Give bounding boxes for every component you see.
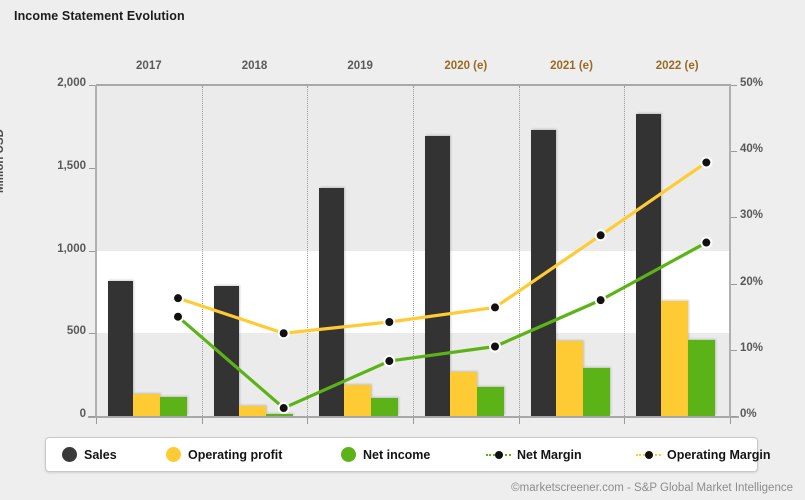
- point-operating-margin-4: [596, 230, 606, 240]
- bottom-tick-mark: [730, 418, 731, 424]
- left-tick-mark: [89, 416, 95, 417]
- right-tick-label: 30%: [740, 209, 763, 221]
- left-tick-mark: [89, 333, 95, 334]
- right-tick-label: 50%: [740, 77, 763, 89]
- right-tick-mark: [731, 151, 737, 152]
- legend-label: Sales: [84, 448, 117, 462]
- category-label-2019: 2019: [300, 60, 420, 72]
- bottom-tick-mark: [307, 418, 308, 424]
- legend-dotted-line-icon: [636, 448, 661, 461]
- bottom-tick-mark: [413, 418, 414, 424]
- point-net-margin-2: [384, 356, 394, 366]
- legend-dot-icon: [166, 447, 181, 462]
- page-title: Income Statement Evolution: [14, 9, 185, 23]
- point-operating-margin-0: [173, 293, 183, 303]
- left-tick-label: 500: [67, 325, 86, 337]
- bottom-tick-mark: [96, 418, 97, 424]
- legend-dot-icon: [62, 447, 77, 462]
- left-axis-title: Million USD: [0, 129, 6, 193]
- left-tick-label: 1,000: [57, 243, 86, 255]
- legend-item-net-income[interactable]: Net income: [341, 447, 430, 462]
- legend-item-sales[interactable]: Sales: [62, 447, 117, 462]
- right-tick-label: 10%: [740, 342, 763, 354]
- right-tick-mark: [731, 284, 737, 285]
- category-label-2018: 2018: [195, 60, 315, 72]
- line-operating-margin: [178, 162, 706, 333]
- margin-lines-layer: [96, 85, 730, 416]
- point-operating-margin-5: [701, 157, 711, 167]
- right-tick-label: 0%: [740, 408, 757, 420]
- legend-label: Net Margin: [517, 448, 582, 462]
- point-net-margin-3: [490, 341, 500, 351]
- category-label-2022-e-: 2022 (e): [617, 60, 737, 72]
- point-operating-margin-3: [490, 302, 500, 312]
- point-operating-margin-2: [384, 317, 394, 327]
- legend-label: Net income: [363, 448, 430, 462]
- chart-legend: SalesOperating profitNet incomeNet Margi…: [45, 437, 758, 472]
- attribution-footer: ©marketscreener.com - S&P Global Market …: [511, 482, 793, 494]
- point-net-margin-0: [173, 312, 183, 322]
- category-label-2020-e-: 2020 (e): [406, 60, 526, 72]
- bottom-tick-mark: [202, 418, 203, 424]
- point-net-margin-4: [596, 295, 606, 305]
- right-tick-mark: [731, 350, 737, 351]
- legend-dot-icon: [341, 447, 356, 462]
- right-tick-label: 20%: [740, 276, 763, 288]
- legend-dotted-line-icon: [486, 448, 511, 461]
- bottom-tick-mark: [519, 418, 520, 424]
- left-tick-mark: [89, 168, 95, 169]
- right-tick-label: 40%: [740, 143, 763, 155]
- legend-label: Operating profit: [188, 448, 282, 462]
- point-net-margin-5: [701, 238, 711, 248]
- left-tick-mark: [89, 251, 95, 252]
- left-tick-mark: [89, 85, 95, 86]
- legend-item-operating-margin[interactable]: Operating Margin: [636, 448, 770, 462]
- left-tick-label: 0: [80, 408, 86, 420]
- left-tick-label: 1,500: [57, 160, 86, 172]
- category-label-2017: 2017: [89, 60, 209, 72]
- point-net-margin-1: [279, 403, 289, 413]
- right-tick-mark: [731, 217, 737, 218]
- income-statement-chart: Income Statement Evolution 05001,0001,50…: [0, 0, 805, 500]
- point-operating-margin-1: [279, 328, 289, 338]
- left-tick-label: 2,000: [57, 77, 86, 89]
- bottom-tick-mark: [624, 418, 625, 424]
- legend-label: Operating Margin: [667, 448, 770, 462]
- legend-item-operating-profit[interactable]: Operating profit: [166, 447, 282, 462]
- legend-item-net-margin[interactable]: Net Margin: [486, 448, 582, 462]
- right-tick-mark: [731, 416, 737, 417]
- right-tick-mark: [731, 85, 737, 86]
- category-label-2021-e-: 2021 (e): [512, 60, 632, 72]
